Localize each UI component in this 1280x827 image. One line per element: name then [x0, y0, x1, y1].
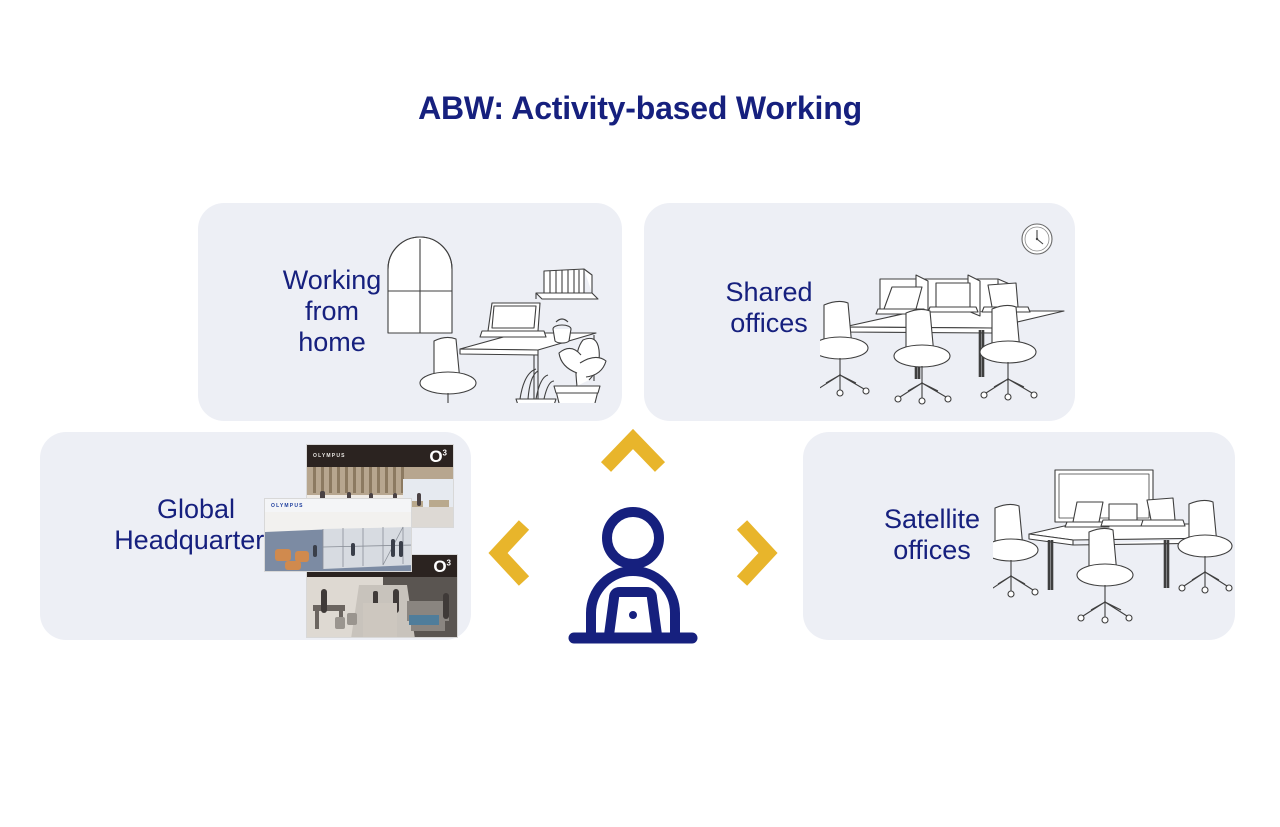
- center-figure-group: [478, 425, 788, 655]
- o3-logo: O3: [433, 558, 451, 575]
- photo-open-plan-office[interactable]: OLYMPUS: [264, 498, 412, 572]
- chevron-left-icon: [498, 525, 524, 581]
- home-office-illustration: [368, 223, 608, 408]
- olympus-wordmark: OLYMPUS: [313, 453, 346, 459]
- panel-working-from-home[interactable]: Working from home: [198, 203, 622, 421]
- person-with-laptop-icon: [574, 512, 692, 638]
- o3-logo: O3: [429, 448, 447, 465]
- panel-global-headquarters[interactable]: Global Headquarters: [40, 432, 471, 640]
- wall-clock-icon: [1022, 224, 1052, 254]
- panel-satellite-offices[interactable]: Satellite offices: [803, 432, 1235, 640]
- photo-mid-band: OLYMPUS: [265, 499, 411, 512]
- chevron-up-icon: [606, 439, 660, 467]
- shared-office-illustration: [820, 217, 1070, 412]
- page-title: ABW: Activity-based Working: [0, 90, 1280, 127]
- photo-top-band: OLYMPUS O3: [307, 445, 453, 467]
- chevron-right-icon: [742, 525, 768, 581]
- panel-shared-offices[interactable]: Shared offices: [644, 203, 1075, 421]
- satellite-office-illustration: [993, 468, 1233, 633]
- olympus-wordmark: OLYMPUS: [271, 503, 304, 509]
